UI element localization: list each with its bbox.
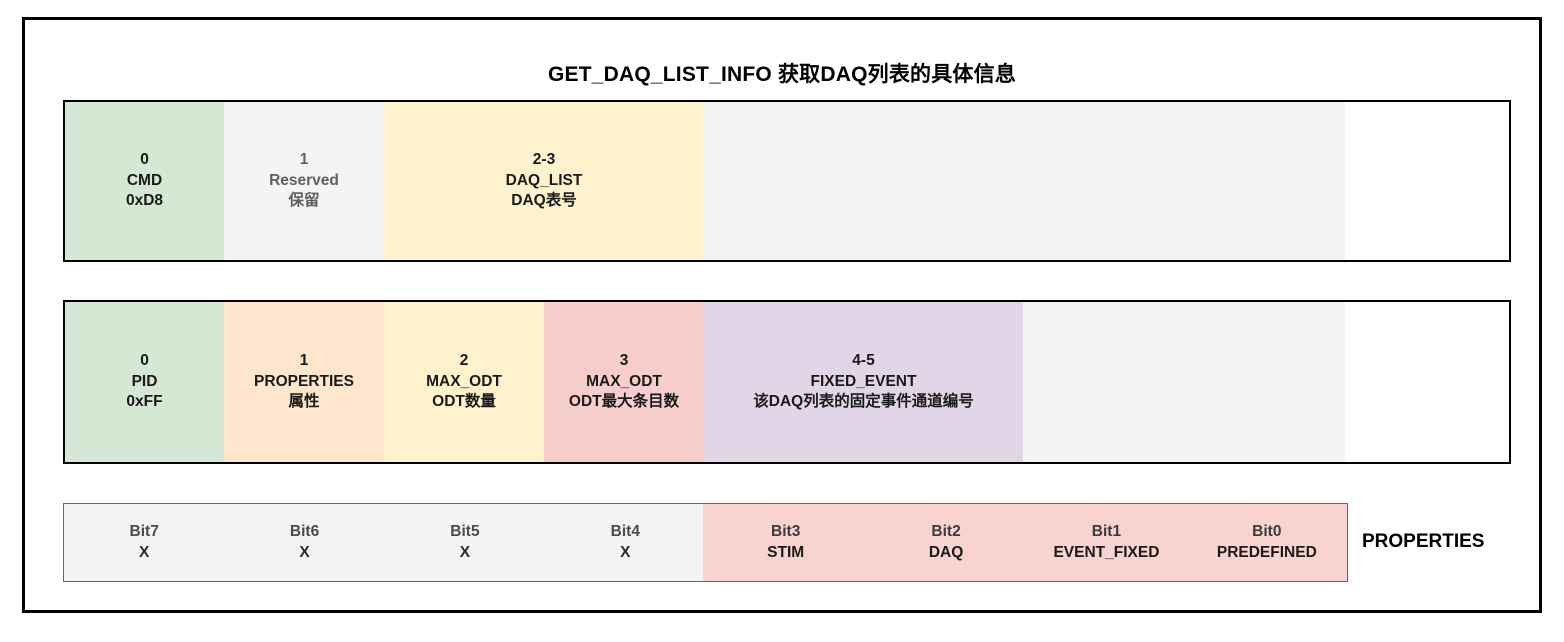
frame-byte-desc: ODT最大条目数 bbox=[569, 392, 679, 412]
bitfield-cell: Bit7X bbox=[64, 504, 224, 581]
frame-byte-cell: 0CMD0xD8 bbox=[65, 102, 224, 260]
bitfield-cell: Bit5X bbox=[385, 504, 545, 581]
bitfield-cell: Bit2DAQ bbox=[866, 504, 1026, 581]
frame-byte-index: 2-3 bbox=[533, 150, 555, 170]
bitfield-bit-value: STIM bbox=[767, 543, 804, 563]
frame-byte-cell: 1Reserved保留 bbox=[224, 102, 384, 260]
properties-bitfield-label: PROPERTIES bbox=[1362, 531, 1484, 553]
bitfield-bit-value: X bbox=[139, 543, 149, 563]
frame-byte-desc: 该DAQ列表的固定事件通道编号 bbox=[753, 392, 973, 412]
frame-byte-name: DAQ_LIST bbox=[506, 171, 583, 191]
frame-byte-cell: 2-3DAQ_LISTDAQ表号 bbox=[384, 102, 704, 260]
frame-byte-desc: 保留 bbox=[288, 191, 319, 211]
frame-byte-index: 1 bbox=[300, 150, 309, 170]
bitfield-bit-index: Bit1 bbox=[1092, 522, 1121, 542]
frame-byte-name: MAX_ODT bbox=[426, 372, 502, 392]
bitfield-bit-value: PREDEFINED bbox=[1217, 543, 1317, 563]
frame-byte-cell: 3MAX_ODTODT最大条目数 bbox=[544, 302, 704, 462]
response-frame-table: 0PID0xFF1PROPERTIES属性2MAX_ODTODT数量3MAX_O… bbox=[63, 300, 1511, 464]
frame-byte-name: FIXED_EVENT bbox=[811, 372, 917, 392]
frame-byte-name: PROPERTIES bbox=[254, 372, 354, 392]
bitfield-cell: Bit0PREDEFINED bbox=[1187, 504, 1347, 581]
bitfield-bit-index: Bit3 bbox=[771, 522, 800, 542]
frame-byte-cell: 2MAX_ODTODT数量 bbox=[384, 302, 544, 462]
bitfield-bit-value: EVENT_FIXED bbox=[1053, 543, 1159, 563]
bitfield-cell: Bit3STIM bbox=[706, 504, 866, 581]
frame-byte-index: 3 bbox=[620, 351, 629, 371]
bitfield-bit-index: Bit5 bbox=[450, 522, 479, 542]
frame-byte-index: 4-5 bbox=[852, 351, 874, 371]
diagram-frame: GET_DAQ_LIST_INFO 获取DAQ列表的具体信息 0CMD0xD81… bbox=[22, 17, 1542, 613]
frame-byte-desc: ODT数量 bbox=[432, 392, 496, 412]
frame-byte-name: MAX_ODT bbox=[586, 372, 662, 392]
diagram-title: GET_DAQ_LIST_INFO 获取DAQ列表的具体信息 bbox=[25, 58, 1539, 88]
bitfield-bit-index: Bit6 bbox=[290, 522, 319, 542]
frame-byte-cell: 1PROPERTIES属性 bbox=[224, 302, 384, 462]
bitfield-cell: Bit1EVENT_FIXED bbox=[1026, 504, 1186, 581]
frame-byte-index: 1 bbox=[300, 351, 309, 371]
frame-byte-desc: 0xFF bbox=[126, 392, 162, 412]
frame-byte-cell: 4-5FIXED_EVENT该DAQ列表的固定事件通道编号 bbox=[704, 302, 1023, 462]
bitfield-bit-value: DAQ bbox=[929, 543, 963, 563]
frame-byte-name: Reserved bbox=[269, 171, 339, 191]
frame-byte-name: CMD bbox=[127, 171, 162, 191]
frame-byte-name: PID bbox=[132, 372, 158, 392]
bitfield-bit-index: Bit7 bbox=[130, 522, 159, 542]
frame-byte-desc: 0xD8 bbox=[126, 191, 163, 211]
frame-byte-desc: 属性 bbox=[288, 392, 319, 412]
bitfield-bit-index: Bit4 bbox=[611, 522, 640, 542]
bitfield-bit-value: X bbox=[460, 543, 470, 563]
bitfield-cell: Bit6X bbox=[224, 504, 384, 581]
frame-byte-cell: 0PID0xFF bbox=[65, 302, 224, 462]
frame-byte-index: 2 bbox=[460, 351, 469, 371]
frame-byte-index: 0 bbox=[140, 150, 149, 170]
properties-bitfield-table: Bit7XBit6XBit5XBit4XBit3STIMBit2DAQBit1E… bbox=[63, 503, 1348, 582]
bitfield-bit-index: Bit2 bbox=[931, 522, 960, 542]
bitfield-bit-index: Bit0 bbox=[1252, 522, 1281, 542]
bitfield-bit-value: X bbox=[620, 543, 630, 563]
frame-byte-index: 0 bbox=[140, 351, 149, 371]
bitfield-bit-value: X bbox=[299, 543, 309, 563]
frame-byte-desc: DAQ表号 bbox=[511, 191, 576, 211]
request-frame-table: 0CMD0xD81Reserved保留2-3DAQ_LISTDAQ表号 bbox=[63, 100, 1511, 262]
bitfield-cell: Bit4X bbox=[545, 504, 705, 581]
